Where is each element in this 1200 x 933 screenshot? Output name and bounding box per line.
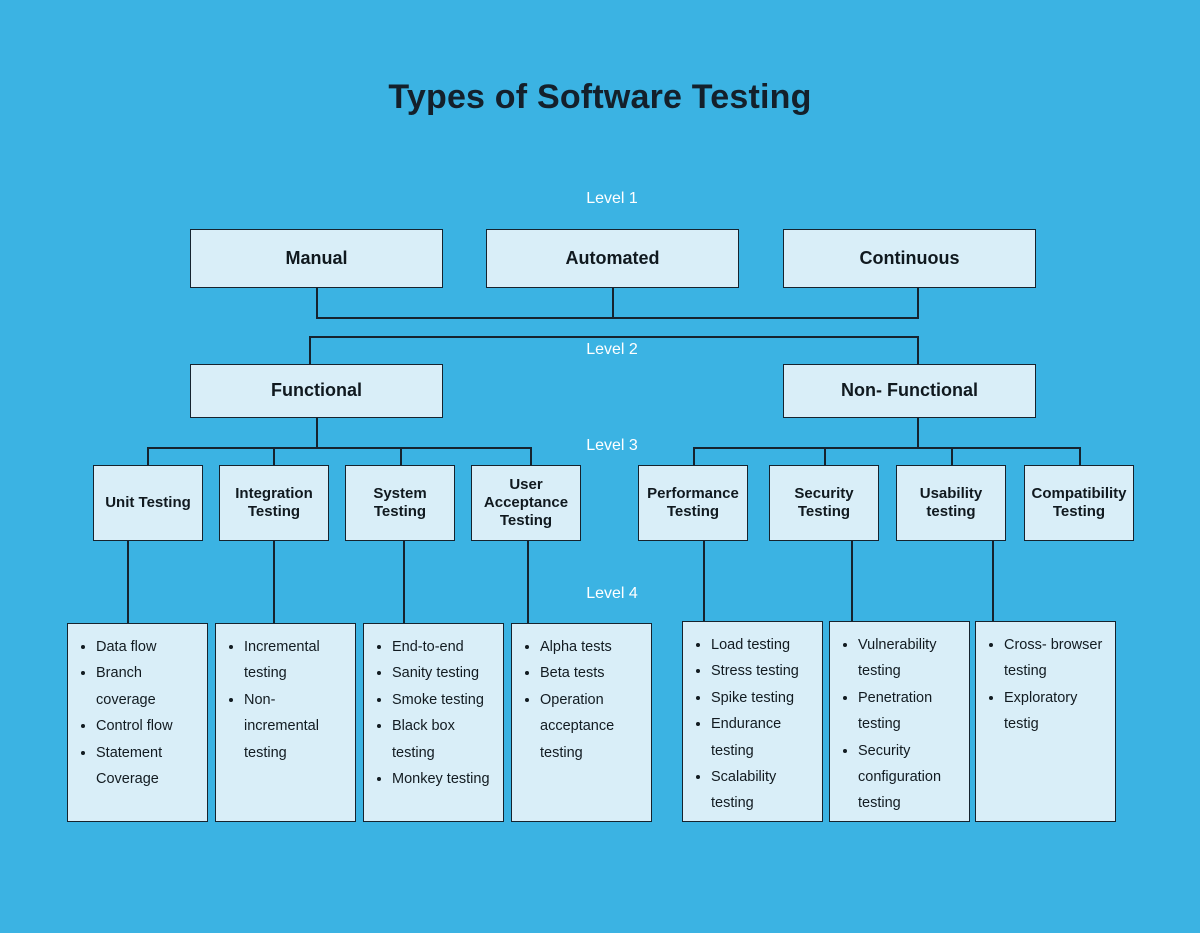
- node-manual[interactable]: Manual: [190, 229, 443, 288]
- list-item: Non-incremental testing: [244, 687, 349, 766]
- list-items: Alpha testsBeta testsOperation acceptanc…: [520, 634, 645, 766]
- connector-automated-down: [612, 288, 614, 318]
- connector-uat-to-list: [527, 541, 529, 623]
- list-items: Load testingStress testingSpike testingE…: [691, 632, 816, 817]
- node-automated-label: Automated: [566, 248, 660, 269]
- node-usability-testing[interactable]: Usability testing: [896, 465, 1006, 541]
- node-continuous[interactable]: Continuous: [783, 229, 1036, 288]
- list-item: Scalability testing: [711, 764, 816, 817]
- list-item: Penetration testing: [858, 685, 963, 738]
- connector-system-to-list: [403, 541, 405, 623]
- node-automated[interactable]: Automated: [486, 229, 739, 288]
- list-compatibility-testing: Cross- browser testingExploratory testig: [975, 621, 1116, 822]
- page-title: Types of Software Testing: [0, 78, 1200, 117]
- list-item: Incremental testing: [244, 634, 349, 687]
- list-integration-testing: Incremental testingNon-incremental testi…: [215, 623, 356, 822]
- connector-nonfunctional-stem: [917, 418, 919, 449]
- list-security-testing: Vulnerability testingPenetration testing…: [829, 621, 970, 822]
- list-item: Data flow: [96, 634, 201, 660]
- list-item: Control flow: [96, 713, 201, 739]
- list-items: Data flowBranch coverageControl flowStat…: [76, 634, 201, 792]
- node-non-functional-label: Non- Functional: [841, 380, 978, 401]
- list-item: Black box testing: [392, 713, 497, 766]
- node-performance-testing[interactable]: Performance Testing: [638, 465, 748, 541]
- list-item: Statement Coverage: [96, 740, 201, 793]
- connector-nonfunctional-bus: [693, 447, 1081, 449]
- node-user-acceptance-testing[interactable]: User Acceptance Testing: [471, 465, 581, 541]
- connector-unit-to-list: [127, 541, 129, 623]
- connector-functional-bus: [147, 447, 532, 449]
- list-user-acceptance-testing: Alpha testsBeta testsOperation acceptanc…: [511, 623, 652, 822]
- connector-performance-down: [693, 447, 695, 465]
- node-security-testing-label: Security Testing: [773, 485, 875, 520]
- list-item: Beta tests: [540, 660, 645, 686]
- node-compatibility-testing[interactable]: Compatibility Testing: [1024, 465, 1134, 541]
- connector-nonfunctional-down: [917, 336, 919, 365]
- list-system-testing: End-to-endSanity testingSmoke testingBla…: [363, 623, 504, 822]
- node-functional[interactable]: Functional: [190, 364, 443, 418]
- node-functional-label: Functional: [271, 380, 362, 401]
- connector-system-down: [400, 447, 402, 465]
- node-unit-testing-label: Unit Testing: [105, 494, 191, 512]
- list-item: Alpha tests: [540, 634, 645, 660]
- level-2-label: Level 2: [532, 341, 692, 359]
- node-system-testing[interactable]: System Testing: [345, 465, 455, 541]
- node-performance-testing-label: Performance Testing: [642, 485, 744, 520]
- connector-uat-down: [530, 447, 532, 465]
- connector-continuous-down: [917, 288, 919, 318]
- list-items: Cross- browser testingExploratory testig: [984, 632, 1109, 738]
- connector-security-to-list: [851, 541, 853, 621]
- list-item: Exploratory testig: [1004, 685, 1109, 738]
- node-integration-testing-label: Integration Testing: [223, 485, 325, 520]
- node-integration-testing[interactable]: Integration Testing: [219, 465, 329, 541]
- connector-functional-down: [309, 336, 311, 365]
- connector-integration-down: [273, 447, 275, 465]
- connector-functional-stem: [316, 418, 318, 449]
- level-3-label: Level 3: [532, 437, 692, 455]
- list-item: Monkey testing: [392, 766, 497, 792]
- connector-unit-down: [147, 447, 149, 465]
- connector-security-down: [824, 447, 826, 465]
- connector-level2-bus: [309, 336, 919, 338]
- connector-usability-to-list: [992, 541, 994, 621]
- connector-integration-to-list: [273, 541, 275, 623]
- node-system-testing-label: System Testing: [349, 485, 451, 520]
- node-unit-testing[interactable]: Unit Testing: [93, 465, 203, 541]
- node-continuous-label: Continuous: [860, 248, 960, 269]
- list-item: End-to-end: [392, 634, 497, 660]
- list-unit-testing: Data flowBranch coverageControl flowStat…: [67, 623, 208, 822]
- list-item: Spike testing: [711, 685, 816, 711]
- list-item: Smoke testing: [392, 687, 497, 713]
- list-item: Sanity testing: [392, 660, 497, 686]
- level-4-label: Level 4: [532, 585, 692, 603]
- list-item: Stress testing: [711, 658, 816, 684]
- connector-compatibility-down: [1079, 447, 1081, 465]
- list-item: Security configuration testing: [858, 738, 963, 817]
- node-compatibility-testing-label: Compatibility Testing: [1028, 485, 1130, 520]
- list-item: Cross- browser testing: [1004, 632, 1109, 685]
- list-items: Incremental testingNon-incremental testi…: [224, 634, 349, 766]
- diagram-canvas: Types of Software Testing Level 1 Level …: [0, 0, 1200, 933]
- list-item: Branch coverage: [96, 660, 201, 713]
- list-performance-testing: Load testingStress testingSpike testingE…: [682, 621, 823, 822]
- list-item: Operation acceptance testing: [540, 687, 645, 766]
- node-usability-testing-label: Usability testing: [900, 485, 1002, 520]
- connector-performance-to-list: [703, 541, 705, 621]
- level-1-label: Level 1: [532, 190, 692, 208]
- list-item: Vulnerability testing: [858, 632, 963, 685]
- node-non-functional[interactable]: Non- Functional: [783, 364, 1036, 418]
- connector-manual-down: [316, 288, 318, 318]
- node-security-testing[interactable]: Security Testing: [769, 465, 879, 541]
- list-items: End-to-endSanity testingSmoke testingBla…: [372, 634, 497, 792]
- list-items: Vulnerability testingPenetration testing…: [838, 632, 963, 817]
- node-user-acceptance-testing-label: User Acceptance Testing: [475, 476, 577, 529]
- node-manual-label: Manual: [285, 248, 347, 269]
- connector-usability-down: [951, 447, 953, 465]
- list-item: Load testing: [711, 632, 816, 658]
- connector-level1-bus: [316, 317, 919, 319]
- list-item: Endurance testing: [711, 711, 816, 764]
